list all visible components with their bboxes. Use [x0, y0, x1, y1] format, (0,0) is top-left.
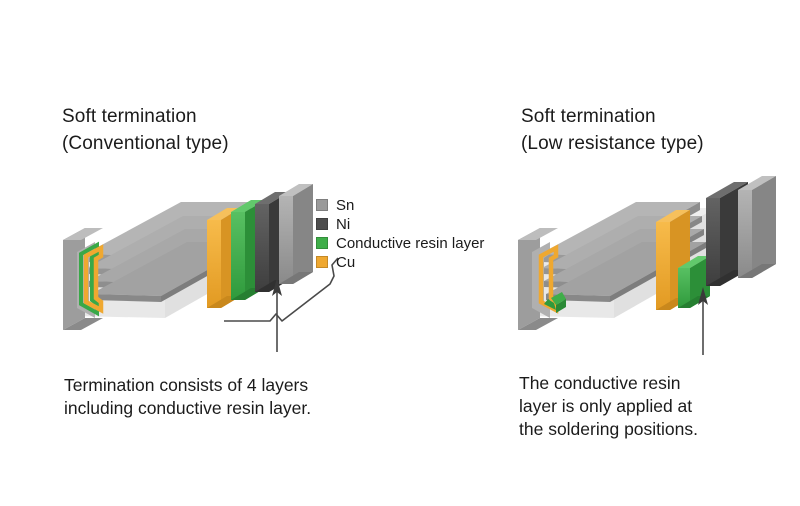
left-figure-title-line2: (Conventional type)	[62, 130, 229, 157]
color-swatch-conductive-resin	[316, 237, 328, 249]
color-swatch-cu	[316, 256, 328, 268]
legend-label-cu: Cu	[336, 255, 355, 270]
right-figure-title-line2: (Low resistance type)	[521, 130, 704, 157]
right-figure-caption: The conductive resin layer is only appli…	[519, 372, 698, 441]
right-caption-line3: the soldering positions.	[519, 418, 698, 441]
right-capacitor-illustration	[510, 168, 800, 358]
right-caption-line1: The conductive resin	[519, 372, 698, 395]
left-figure-title: Soft termination (Conventional type)	[62, 103, 229, 157]
left-figure-caption: Termination consists of 4 layers includi…	[64, 374, 311, 420]
right-arrow-annotation	[688, 285, 718, 362]
left-caption-line1: Termination consists of 4 layers	[64, 374, 311, 397]
right-figure-panel: Soft termination (Low resistance type)	[400, 0, 800, 506]
right-figure-title-line1: Soft termination	[521, 106, 656, 127]
left-figure-title-line1: Soft termination	[62, 106, 197, 127]
color-swatch-ni	[316, 218, 328, 230]
legend-label-sn: Sn	[336, 198, 354, 213]
right-capacitor-svg	[510, 168, 800, 358]
left-end-termination-wrap	[63, 228, 103, 330]
color-swatch-sn	[316, 199, 328, 211]
left-caption-line2: including conductive resin layer.	[64, 397, 311, 420]
right-caption-line2: layer is only applied at	[519, 395, 698, 418]
layer-sn	[738, 176, 776, 278]
right-arrow-svg	[688, 285, 718, 357]
right-figure-title: Soft termination (Low resistance type)	[521, 103, 704, 157]
legend-label-ni: Ni	[336, 217, 350, 232]
